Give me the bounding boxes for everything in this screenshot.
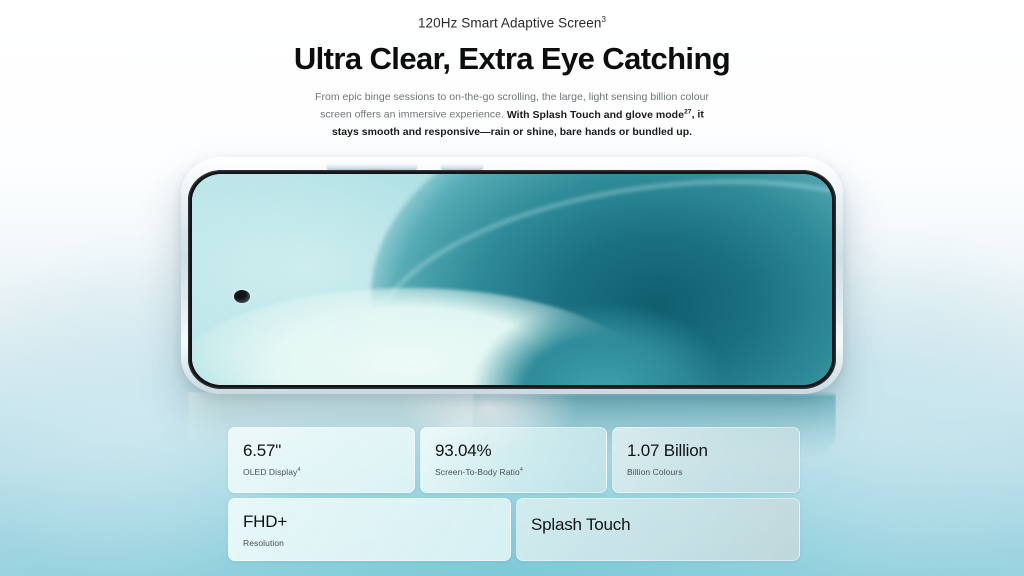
- phone-device: [181, 157, 843, 394]
- description-bold-text: With Splash Touch and glove mode: [507, 109, 684, 121]
- description-bold: With Splash Touch and glove mode27: [507, 109, 692, 121]
- spec-card-screen-to-body-ratio[interactable]: 93.04% Screen-To-Body Ratio4: [420, 427, 607, 493]
- spec-cards: 6.57" OLED Display4 93.04% Screen-To-Bod…: [228, 427, 800, 561]
- promo-page: 120Hz Smart Adaptive Screen3 Ultra Clear…: [0, 0, 1024, 576]
- eyebrow-text: 120Hz Smart Adaptive Screen3: [0, 15, 1024, 31]
- spec-value: 6.57": [243, 442, 400, 460]
- phone-frame: [181, 157, 843, 394]
- spec-value: 93.04%: [435, 442, 592, 460]
- spec-label: Resolution: [243, 538, 496, 548]
- spec-row-1: 6.57" OLED Display4 93.04% Screen-To-Bod…: [228, 427, 800, 493]
- eyebrow-label: 120Hz Smart Adaptive Screen: [418, 16, 602, 31]
- screen-glass-sheen: [192, 174, 832, 385]
- spec-card-oled-display[interactable]: 6.57" OLED Display4: [228, 427, 415, 493]
- spec-label: Screen-To-Body Ratio4: [435, 467, 592, 477]
- spec-label-footnote: 4: [297, 467, 300, 473]
- spec-label-text: Resolution: [243, 538, 284, 548]
- spec-label-footnote: 4: [520, 467, 523, 473]
- front-camera-icon: [234, 290, 250, 303]
- spec-row-2: FHD+ Resolution Splash Touch: [228, 498, 800, 561]
- power-button[interactable]: [441, 163, 483, 170]
- phone-screen: [192, 174, 832, 385]
- volume-rocker-button[interactable]: [327, 163, 417, 170]
- spec-card-splash-touch[interactable]: Splash Touch: [516, 498, 800, 561]
- spec-card-billion-colours[interactable]: 1.07 Billion Billion Colours: [612, 427, 800, 493]
- description-footnote: 27: [684, 108, 692, 115]
- page-description: From epic binge sessions to on-the-go sc…: [312, 89, 712, 141]
- page-title: Ultra Clear, Extra Eye Catching: [0, 41, 1024, 77]
- spec-label: OLED Display4: [243, 467, 400, 477]
- spec-value: 1.07 Billion: [627, 442, 785, 460]
- spec-value: Splash Touch: [531, 513, 785, 534]
- spec-label-text: Billion Colours: [627, 467, 683, 477]
- spec-card-resolution[interactable]: FHD+ Resolution: [228, 498, 511, 561]
- spec-label-text: OLED Display: [243, 467, 297, 477]
- spec-value: FHD+: [243, 513, 496, 531]
- phone-bezel: [188, 170, 836, 389]
- spec-label: Billion Colours: [627, 467, 785, 477]
- spec-label-text: Screen-To-Body Ratio: [435, 467, 520, 477]
- eyebrow-footnote: 3: [601, 15, 606, 24]
- header: 120Hz Smart Adaptive Screen3 Ultra Clear…: [0, 0, 1024, 141]
